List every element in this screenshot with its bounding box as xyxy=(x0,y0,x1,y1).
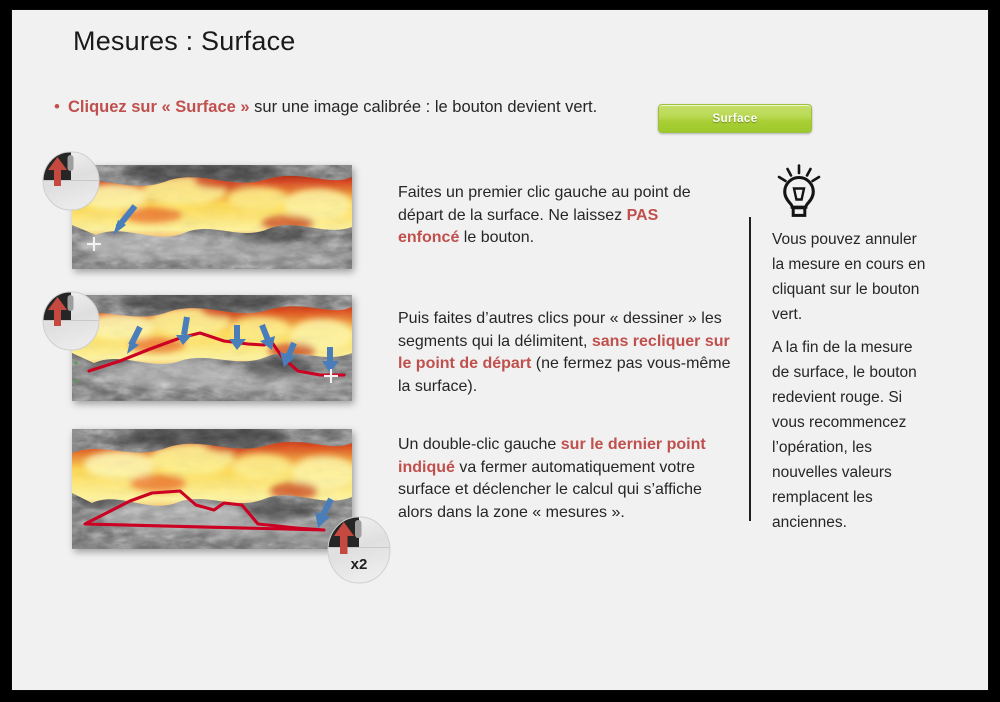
instruction-text-step-3: Un double-clic gauche sur le dernier poi… xyxy=(398,434,710,524)
mouse-double-click-label: x2 xyxy=(351,556,368,573)
ultrasound-image-closed-surface[interactable] xyxy=(72,429,352,549)
bullet-text: Cliquez sur « Surface » sur une image ca… xyxy=(68,96,597,118)
mouse-left-click-glyph xyxy=(40,150,102,212)
bullet-marker: • xyxy=(52,96,68,118)
mouse-double-click-glyph: x2 xyxy=(325,515,393,585)
page-title: Mesures : Surface xyxy=(73,26,296,57)
surface-button[interactable]: Surface xyxy=(658,104,812,133)
bullet-row: • Cliquez sur « Surface » sur une image … xyxy=(52,96,752,118)
mouse-left-click-icon xyxy=(40,290,102,352)
ultrasound-render-3 xyxy=(72,429,352,549)
ultrasound-render-1 xyxy=(72,165,352,269)
surface-button-label: Surface xyxy=(713,113,758,125)
slide-frame: Mesures : Surface • Cliquez sur « Surfac… xyxy=(0,0,1000,702)
tip-paragraph-result: A la fin de la mesure de surface, le bou… xyxy=(772,335,932,535)
bullet-text-rest: sur une image calibrée : le bouton devie… xyxy=(250,98,598,116)
slide-canvas: Mesures : Surface • Cliquez sur « Surfac… xyxy=(12,10,988,690)
mouse-left-click-icon xyxy=(40,150,102,212)
lightbulb-icon xyxy=(773,164,825,218)
ultrasound-render-2 xyxy=(72,295,352,401)
instr-1-run-2: le bouton. xyxy=(459,229,534,246)
instruction-text-step-2: Puis faites d’autres clics pour « dessin… xyxy=(398,308,733,398)
instr-3-run-0: Un double-clic gauche xyxy=(398,436,561,453)
bullet-text-emphasis: Cliquez sur « Surface » xyxy=(68,98,250,116)
ultrasound-image-start-point[interactable] xyxy=(72,165,352,269)
mouse-left-click-glyph xyxy=(40,290,102,352)
instruction-text-step-1: Faites un premier clic gauche au point d… xyxy=(398,182,723,250)
mouse-double-click-icon: x2 xyxy=(325,515,393,585)
ultrasound-image-segments[interactable] xyxy=(72,295,352,401)
tip-paragraph-cancel: Vous pouvez annuler la mesure en cours e… xyxy=(772,227,932,327)
lightbulb-glyph xyxy=(773,164,825,218)
tip-divider xyxy=(749,217,751,521)
